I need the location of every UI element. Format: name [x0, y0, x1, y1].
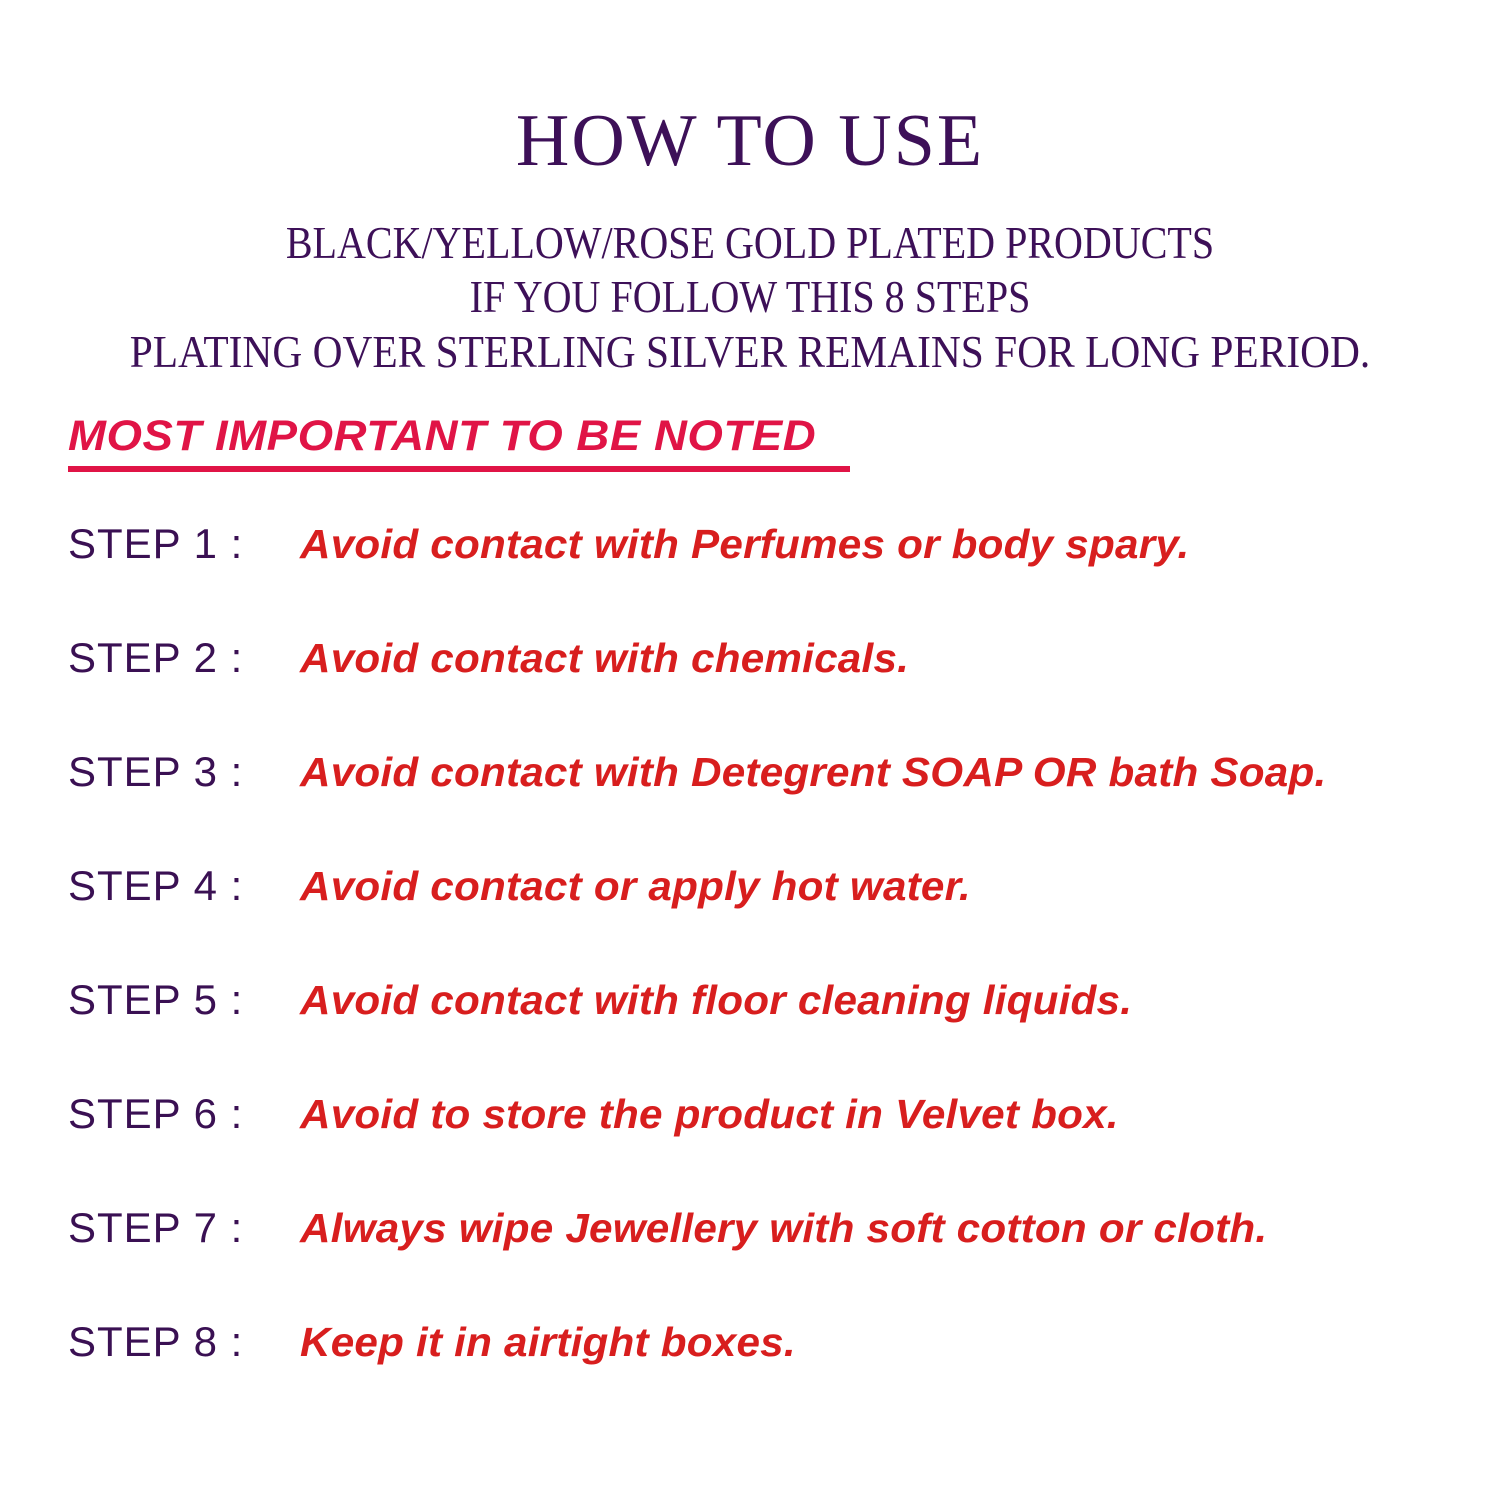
step-row: STEP 1 : Avoid contact with Perfumes or …	[68, 520, 1468, 634]
notice-heading: MOST IMPORTANT TO BE NOTED	[68, 412, 816, 461]
page-title: HOW TO USE	[0, 0, 1500, 178]
step-row: STEP 3 : Avoid contact with Detegrent SO…	[68, 748, 1468, 862]
step-row: STEP 6 : Avoid to store the product in V…	[68, 1090, 1468, 1204]
notice-underline	[68, 466, 850, 472]
subtitle-line-1: BLACK/YELLOW/ROSE GOLD PLATED PRODUCTS	[98, 216, 1403, 270]
step-row: STEP 4 : Avoid contact or apply hot wate…	[68, 862, 1468, 976]
header-block: HOW TO USE BLACK/YELLOW/ROSE GOLD PLATED…	[0, 0, 1500, 379]
step-label: STEP 6 :	[68, 1090, 300, 1138]
step-text: Avoid contact with chemicals.	[300, 635, 909, 682]
care-instructions-page: HOW TO USE BLACK/YELLOW/ROSE GOLD PLATED…	[0, 0, 1500, 1500]
step-text: Always wipe Jewellery with soft cotton o…	[300, 1205, 1267, 1252]
step-label: STEP 2 :	[68, 634, 300, 682]
step-label: STEP 7 :	[68, 1204, 300, 1252]
subtitle-line-2: IF YOU FOLLOW THIS 8 STEPS	[98, 270, 1403, 324]
steps-list: STEP 1 : Avoid contact with Perfumes or …	[68, 520, 1468, 1432]
step-label: STEP 5 :	[68, 976, 300, 1024]
step-row: STEP 7 : Always wipe Jewellery with soft…	[68, 1204, 1468, 1318]
most-important-notice: MOST IMPORTANT TO BE NOTED	[68, 412, 850, 472]
subtitle-block: BLACK/YELLOW/ROSE GOLD PLATED PRODUCTS I…	[0, 216, 1500, 379]
step-text: Avoid to store the product in Velvet box…	[300, 1091, 1119, 1138]
step-row: STEP 2 : Avoid contact with chemicals.	[68, 634, 1468, 748]
step-label: STEP 1 :	[68, 520, 300, 568]
step-text: Avoid contact with Perfumes or body spar…	[300, 521, 1189, 568]
step-label: STEP 8 :	[68, 1318, 300, 1366]
subtitle-line-3: PLATING OVER STERLING SILVER REMAINS FOR…	[75, 325, 1425, 379]
step-row: STEP 5 : Avoid contact with floor cleani…	[68, 976, 1468, 1090]
step-text: Keep it in airtight boxes.	[300, 1319, 796, 1366]
step-row: STEP 8 : Keep it in airtight boxes.	[68, 1318, 1468, 1432]
step-text: Avoid contact with Detegrent SOAP OR bat…	[300, 749, 1326, 796]
step-label: STEP 4 :	[68, 862, 300, 910]
step-text: Avoid contact with floor cleaning liquid…	[300, 977, 1132, 1024]
step-text: Avoid contact or apply hot water.	[300, 863, 971, 910]
step-label: STEP 3 :	[68, 748, 300, 796]
